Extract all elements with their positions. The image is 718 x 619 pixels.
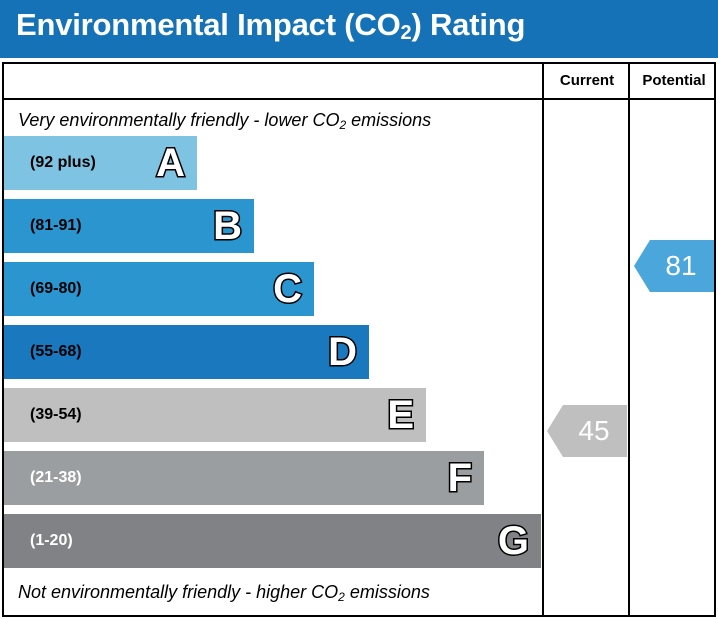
column-divider-potential — [628, 64, 630, 615]
current-rating-arrow: 45 — [547, 405, 627, 457]
caption-bottom-subscript: 2 — [338, 590, 345, 604]
band-row-d: (55-68)D — [4, 325, 369, 379]
caption-top-prefix: Very environmentally friendly - lower CO — [18, 110, 339, 130]
band-range-a: (92 plus) — [30, 154, 96, 172]
band-letter-g: G — [498, 521, 529, 561]
caption-top-suffix: emissions — [346, 110, 431, 130]
band-letter-b: B — [213, 206, 242, 246]
caption-bottom: Not environmentally friendly - higher CO… — [18, 582, 430, 603]
page-title-subscript: 2 — [401, 22, 412, 44]
epc-environmental-impact-chart: Environmental Impact (CO2) Rating Curren… — [0, 0, 718, 619]
column-header-current: Current — [544, 72, 630, 89]
band-letter-c: C — [273, 269, 302, 309]
band-range-g: (1-20) — [30, 532, 73, 550]
band-letter-d: D — [328, 332, 357, 372]
band-range-f: (21-38) — [30, 469, 82, 487]
band-range-c: (69-80) — [30, 280, 82, 298]
band-letter-e: E — [387, 395, 414, 435]
band-row-g: (1-20)G — [4, 514, 541, 568]
band-letter-f: F — [448, 458, 472, 498]
caption-top-subscript: 2 — [339, 118, 346, 132]
band-letter-a: A — [156, 143, 185, 183]
band-range-b: (81-91) — [30, 217, 82, 235]
current-rating-value: 45 — [564, 415, 609, 447]
title-banner: Environmental Impact (CO2) Rating — [0, 0, 718, 58]
band-row-f: (21-38)F — [4, 451, 484, 505]
page-title-prefix: Environmental Impact (CO — [16, 7, 401, 42]
column-divider-current — [542, 64, 544, 615]
caption-bottom-prefix: Not environmentally friendly - higher CO — [18, 582, 338, 602]
column-header-potential: Potential — [630, 72, 718, 89]
band-range-d: (55-68) — [30, 343, 82, 361]
page-title-suffix: ) Rating — [411, 7, 525, 42]
potential-rating-arrow: 81 — [634, 240, 714, 292]
page-title: Environmental Impact (CO2) Rating — [16, 7, 525, 43]
potential-rating-value: 81 — [651, 250, 696, 282]
band-range-e: (39-54) — [30, 406, 82, 424]
band-row-b: (81-91)B — [4, 199, 254, 253]
caption-bottom-suffix: emissions — [345, 582, 430, 602]
band-row-a: (92 plus)A — [4, 136, 197, 190]
band-row-e: (39-54)E — [4, 388, 426, 442]
band-row-c: (69-80)C — [4, 262, 314, 316]
caption-top: Very environmentally friendly - lower CO… — [18, 110, 431, 131]
rating-table: Current Potential Very environmentally f… — [2, 62, 716, 617]
